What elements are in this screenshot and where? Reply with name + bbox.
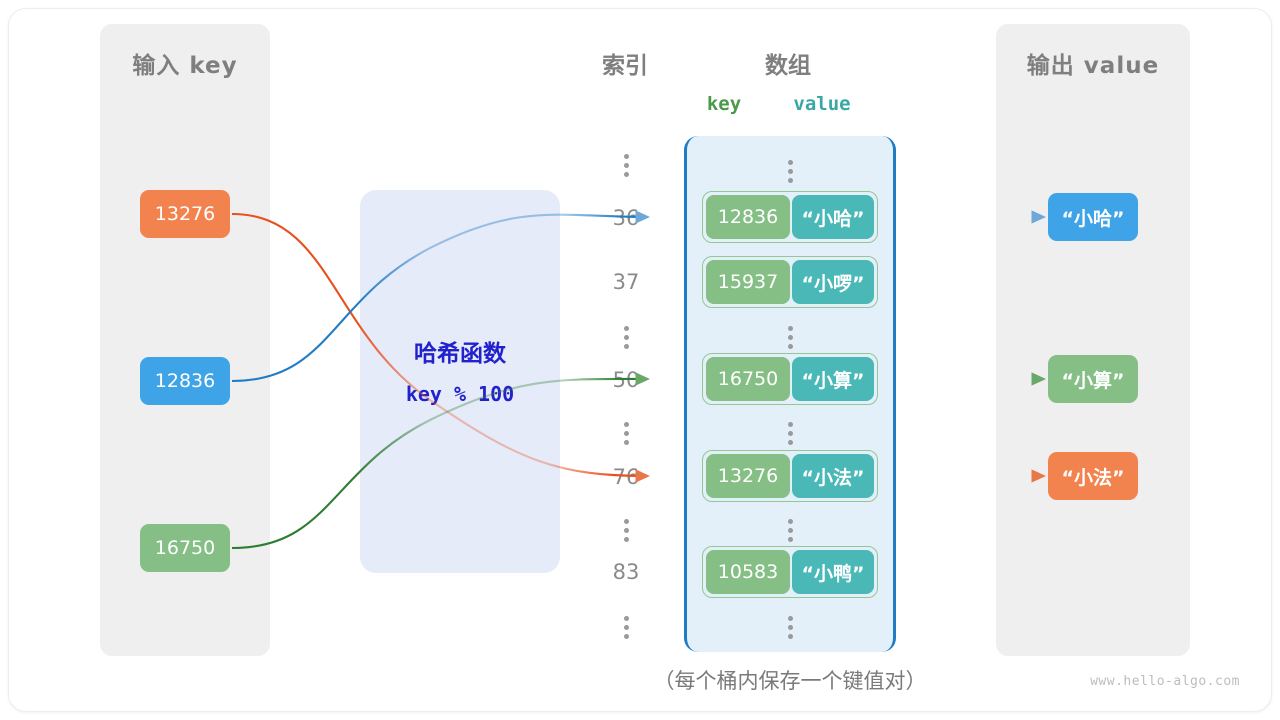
array-ellipsis [684, 515, 896, 546]
bucket-value-cell: “小鸭” [792, 550, 874, 594]
watermark: www.hello-algo.com [1090, 674, 1240, 689]
diagram-canvas: 输入 key 输出 value 哈希函数 key % 100 索引 数组 key… [0, 0, 1280, 720]
index-ellipsis [588, 515, 664, 546]
index-label-76: 76 [588, 465, 664, 489]
bucket-key-cell: 13276 [706, 454, 790, 498]
bucket-key-cell: 12836 [706, 195, 790, 239]
input-key-chip-12836: 12836 [140, 357, 230, 405]
bucket-key-cell: 10583 [706, 550, 790, 594]
output-value-panel: 输出 value [996, 24, 1190, 656]
bucket-37: 15937“小啰” [702, 256, 878, 308]
index-column: 3637507683 [588, 130, 664, 650]
bucket-value-cell: “小哈” [792, 195, 874, 239]
diagram-caption: （每个桶内保存一个键值对） [590, 665, 990, 695]
index-label-37: 37 [588, 270, 664, 294]
array-value-header: value [772, 93, 872, 115]
input-panel-title: 输入 key [100, 46, 270, 80]
output-panel-title: 输出 value [996, 46, 1190, 80]
hash-function-box: 哈希函数 key % 100 [360, 190, 560, 573]
index-label-83: 83 [588, 560, 664, 584]
hash-function-expression: key % 100 [360, 382, 560, 406]
bucket-83: 10583“小鸭” [702, 546, 878, 598]
output-value-chip: “小法” [1048, 452, 1138, 500]
hash-function-title: 哈希函数 [360, 334, 560, 368]
index-label-36: 36 [588, 206, 664, 230]
bucket-value-cell: “小法” [792, 454, 874, 498]
bucket-key-cell: 16750 [706, 357, 790, 401]
bucket-76: 13276“小法” [702, 450, 878, 502]
output-value-chip: “小算” [1048, 355, 1138, 403]
index-ellipsis [588, 150, 664, 181]
output-value-chip: “小哈” [1048, 193, 1138, 241]
index-ellipsis [588, 418, 664, 449]
bucket-value-cell: “小啰” [792, 260, 874, 304]
input-key-chip-13276: 13276 [140, 190, 230, 238]
index-label-50: 50 [588, 368, 664, 392]
index-column-header: 索引 [570, 46, 680, 80]
array-key-header: key [690, 93, 758, 115]
index-ellipsis [588, 612, 664, 643]
bucket-key-cell: 15937 [706, 260, 790, 304]
array-column-header: 数组 [720, 46, 856, 80]
array-ellipsis [684, 612, 896, 643]
input-key-chip-16750: 16750 [140, 524, 230, 572]
array-ellipsis [684, 156, 896, 187]
bucket-value-cell: “小算” [792, 357, 874, 401]
array-ellipsis [684, 322, 896, 353]
bucket-36: 12836“小哈” [702, 191, 878, 243]
index-ellipsis [588, 322, 664, 353]
bucket-50: 16750“小算” [702, 353, 878, 405]
array-ellipsis [684, 418, 896, 449]
